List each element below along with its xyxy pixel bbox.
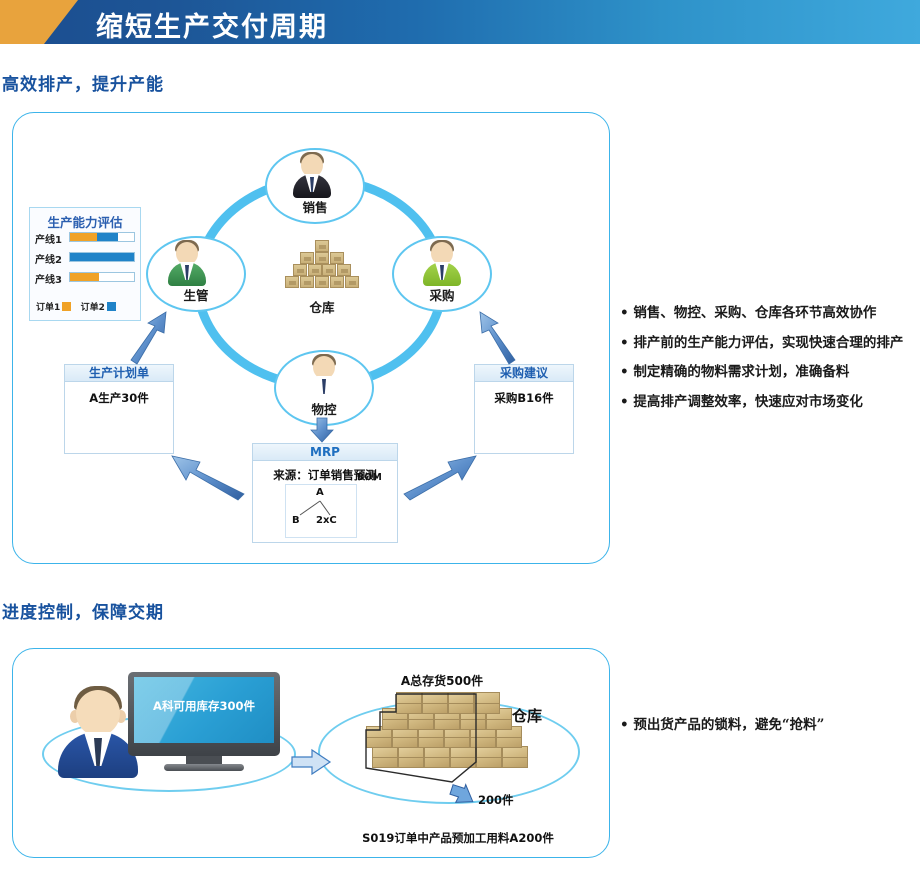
benefits-list-progress: 预出货产品的锁料，避免“抢料”	[620, 718, 920, 748]
monitor-display: A科可用库存300件	[128, 672, 280, 772]
monitor-stand-base	[164, 764, 244, 771]
benefit-item: 提高排产调整效率，快速应对市场变化	[620, 395, 920, 411]
arrow-mrp-to-plan	[172, 456, 244, 500]
arrow-plan-to-production	[131, 312, 166, 364]
flow-arrows-group	[0, 0, 620, 570]
benefit-item: 销售、物控、采购、仓库各环节高效协作	[620, 306, 920, 322]
benefits-list-scheduling: 销售、物控、采购、仓库各环节高效协作 排产前的生产能力评估，实现快速合理的排产 …	[620, 306, 920, 424]
benefit-item: 制定精确的物料需求计划，准确备料	[620, 365, 920, 381]
benefit-item: 预出货产品的锁料，避免“抢料”	[620, 718, 920, 734]
total-stock-label: A总存货500件	[372, 672, 512, 689]
monitor-screen-text: A科可用库存300件	[128, 698, 280, 714]
benefit-item: 排产前的生产能力评估，实现快速合理的排产	[620, 336, 920, 352]
section-heading-2: 进度控制，保障交期	[2, 598, 164, 623]
arrow-mrp-to-purchase	[404, 456, 476, 500]
warehouse-label: 仓库	[512, 705, 542, 726]
arrow-issue-200	[448, 782, 482, 810]
issued-quantity-label: 200件	[478, 792, 514, 808]
arrow-monitor-to-warehouse	[290, 748, 334, 782]
arrow-purchase-to-purchasing	[480, 312, 515, 364]
bottom-caption: S019订单中产品预加工用料A200件	[318, 830, 598, 846]
arrow-matctl-to-mrp	[311, 418, 333, 442]
